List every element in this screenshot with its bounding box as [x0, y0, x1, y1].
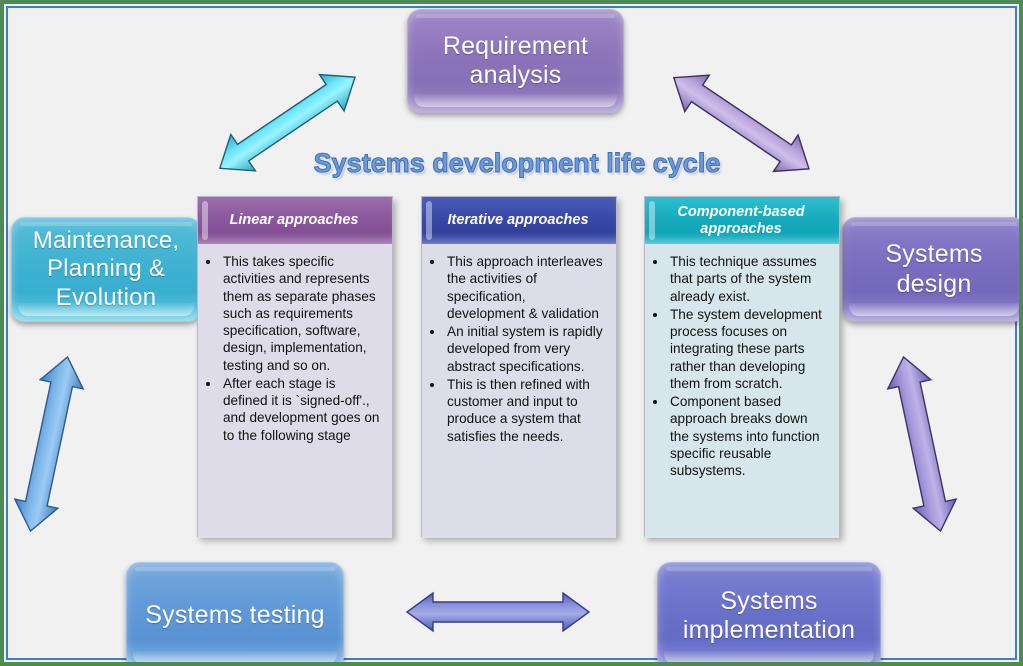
bullet-list: This takes specific activities and repre… — [206, 253, 382, 444]
panel-header-label: Iterative approaches — [447, 212, 588, 229]
stage-box-maintenance-planning-evolution[interactable]: Maintenance, Planning & Evolution — [11, 217, 201, 322]
panel-body-linear-approaches: This takes specific activities and repre… — [198, 244, 392, 538]
double-arrow-maintenance-to-requirement-icon — [200, 68, 375, 178]
double-arrow-maintenance-to-testing-icon — [9, 349, 89, 539]
list-item: This is then refined with customer and i… — [445, 376, 606, 445]
panel-body-iterative-approaches: This approach interleaves the activities… — [422, 244, 616, 538]
double-arrow-design-to-implementation-icon — [882, 349, 962, 539]
double-arrow-requirement-to-design-icon — [654, 68, 829, 178]
list-item: The system development process focuses o… — [668, 306, 829, 392]
panel-iterative-approaches: Iterative approaches This approach inter… — [421, 196, 617, 537]
stage-label-requirement-analysis: Requirement analysis — [418, 32, 613, 91]
list-item: Component based approach breaks down the… — [668, 393, 829, 479]
bullet-list: This technique assumes that parts of the… — [653, 253, 829, 479]
panel-header-component-based-approaches: Component-based approaches — [645, 197, 839, 244]
stage-box-systems-implementation[interactable]: Systems implementation — [657, 562, 881, 666]
list-item: An initial system is rapidly developed f… — [445, 323, 606, 375]
stage-label-maintenance-planning-evolution: Maintenance, Planning & Evolution — [22, 227, 190, 312]
list-item: After each stage is defined it is `signe… — [221, 375, 382, 444]
double-arrow-testing-to-implementation-icon — [403, 587, 593, 637]
stage-box-systems-testing[interactable]: Systems testing — [126, 562, 344, 666]
diagram-canvas: Requirement analysis Maintenance, Planni… — [0, 0, 1023, 666]
bullet-list: This approach interleaves the activities… — [430, 253, 606, 445]
stage-label-systems-testing: Systems testing — [145, 601, 324, 631]
list-item: This takes specific activities and repre… — [221, 253, 382, 374]
stage-box-systems-design[interactable]: Systems design — [842, 217, 1023, 322]
list-item: This approach interleaves the activities… — [445, 253, 606, 322]
stage-box-requirement-analysis[interactable]: Requirement analysis — [407, 9, 624, 113]
panel-header-label: Component-based approaches — [659, 204, 823, 237]
stage-label-systems-design: Systems design — [853, 240, 1015, 299]
panel-header-iterative-approaches: Iterative approaches — [422, 197, 616, 244]
stage-label-systems-implementation: Systems implementation — [668, 587, 870, 646]
panel-header-linear-approaches: Linear approaches — [198, 197, 392, 244]
panel-component-based-approaches: Component-based approaches This techniqu… — [644, 196, 840, 537]
list-item: This technique assumes that parts of the… — [668, 253, 829, 305]
panel-header-label: Linear approaches — [230, 212, 359, 229]
panel-linear-approaches: Linear approaches This takes specific ac… — [197, 196, 393, 537]
panel-body-component-based-approaches: This technique assumes that parts of the… — [645, 244, 839, 538]
